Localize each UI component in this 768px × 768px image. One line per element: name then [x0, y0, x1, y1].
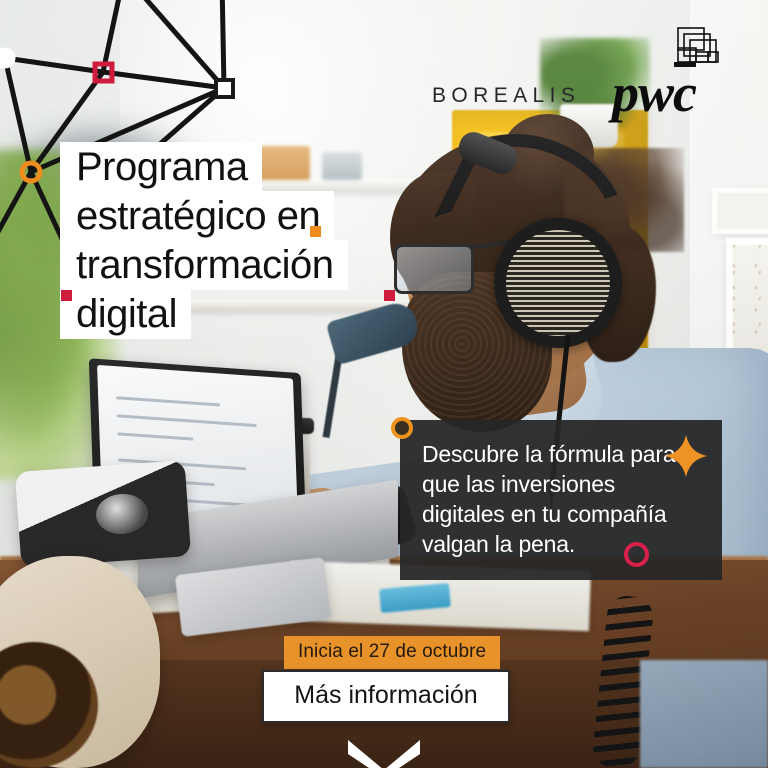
circle-outline-icon	[624, 542, 649, 567]
headline-line-1: Programa	[60, 142, 262, 192]
chevron-down-icon[interactable]	[344, 738, 424, 768]
more-info-button[interactable]: Más información	[262, 670, 510, 723]
promotional-banner: BOREALIS pwc Programa estratégico en tra…	[0, 0, 768, 768]
four-point-star-icon	[664, 434, 708, 478]
headline-line-4: digital	[60, 289, 191, 339]
accent-square-crimson	[61, 290, 72, 301]
page-title: Programa estratégico en transformación d…	[60, 142, 420, 338]
start-date-badge: Inicia el 27 de octubre	[284, 636, 500, 669]
callout-box: Descubre la fórmula para que las inversi…	[400, 420, 722, 580]
headline-line-3: transformación	[60, 240, 348, 290]
pwc-logo: pwc	[612, 26, 722, 114]
circle-outline-orange-icon	[391, 417, 413, 439]
logo-bar: BOREALIS pwc	[0, 0, 768, 130]
accent-square-crimson	[384, 290, 395, 301]
pwc-wordmark: pwc	[612, 66, 696, 120]
borealis-logo: BOREALIS	[432, 84, 580, 108]
accent-square-orange	[310, 226, 321, 237]
headline-line-2: estratégico en	[60, 191, 334, 241]
